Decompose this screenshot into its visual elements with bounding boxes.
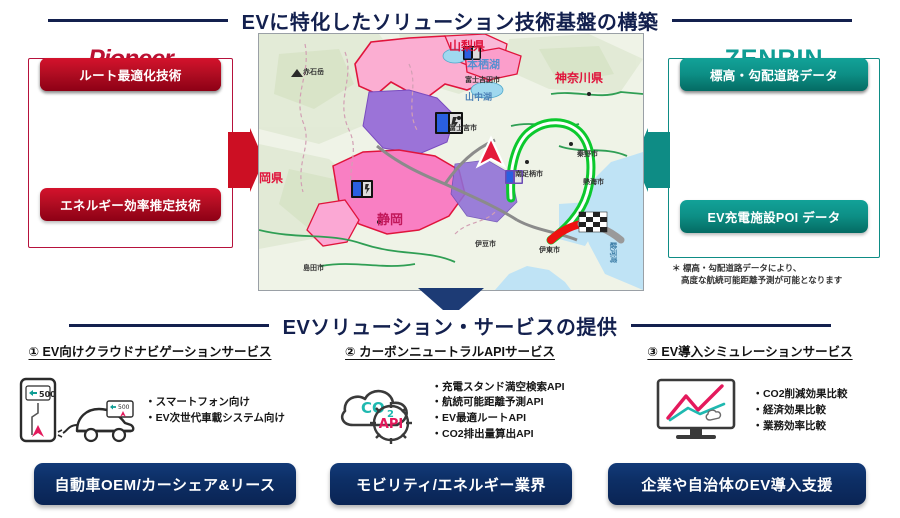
service-2-bullet-3: ・EV最適ルートAPI	[431, 411, 564, 427]
service-2-body: CO 2	[300, 372, 600, 450]
service-3-bullet-1: ・CO2削減効果比較	[752, 387, 847, 403]
service-3-body: ・CO2削減効果比較 ・経済効果比較 ・業務効率比較	[600, 372, 900, 450]
zenrin-panel: ZENRIN EV充電施設POI データ 高精度・高鮮度地図データ 標高・勾配道…	[668, 58, 880, 258]
svg-text:静岡: 静岡	[377, 212, 403, 228]
smartphone-car-nav-icon: 500 500	[15, 373, 135, 450]
svg-text:山中湖: 山中湖	[465, 91, 492, 103]
monitor-line-chart-icon	[652, 374, 742, 449]
navigation-map[interactable]: 山梨県 本栖湖 赤石岳 富士宮市 富士吉田市 山中湖 神奈川県 秦野市 南足柄市…	[258, 33, 644, 291]
svg-text:山梨県: 山梨県	[449, 38, 485, 53]
svg-text:神奈川県: 神奈川県	[555, 70, 603, 85]
service-3-bullets: ・CO2削減効果比較 ・経済効果比較 ・業務効率比較	[752, 387, 847, 434]
target-market-pill-3[interactable]: 企業や自治体のEV導入支援	[608, 463, 866, 505]
service-2-bullet-2: ・航続可能距離予測API	[431, 395, 564, 411]
service-1-bullet-1: ・スマートフォン向け	[145, 395, 285, 411]
service-3-bullet-3: ・業務効率比較	[752, 419, 847, 435]
pioneer-panel: Pioneer エネルギー効率推定技術 航続可能距離予測技術 ルート最適化技術	[28, 58, 233, 248]
svg-text:伊豆市: 伊豆市	[474, 239, 496, 248]
service-3-bullet-2: ・経済効果比較	[752, 403, 847, 419]
svg-text:富士宮市: 富士宮市	[449, 123, 477, 132]
bottom-title-rule-left	[69, 324, 269, 327]
svg-text:南足柄市: 南足柄市	[515, 169, 543, 178]
goal-flag-icon	[579, 212, 607, 232]
svg-text:島田市: 島田市	[303, 263, 324, 272]
zenrin-data-chip-3[interactable]: 標高・勾配道路データ	[680, 58, 868, 91]
svg-text:500: 500	[118, 404, 130, 411]
svg-text:本栖湖: 本栖湖	[467, 57, 500, 71]
zenrin-footnote-line1: ＊ 標高・勾配道路データにより、	[672, 262, 900, 274]
svg-text:API: API	[379, 417, 403, 432]
title-rule-left	[48, 19, 228, 22]
service-2-bullet-1: ・充電スタンド満空検索API	[431, 380, 564, 396]
flow-down-arrow-icon	[418, 288, 484, 310]
service-2-bullet-4: ・CO2排出量算出API	[431, 427, 564, 443]
pioneer-tech-chip-1[interactable]: エネルギー効率推定技術	[40, 188, 221, 221]
svg-text:岡県: 岡県	[259, 171, 283, 185]
service-block-1: ① EV向けクラウドナビゲーションサービス 500	[0, 341, 300, 450]
svg-text:富士吉田市: 富士吉田市	[465, 75, 500, 84]
ev-charge-poi-icon	[351, 180, 373, 198]
target-market-pill-2[interactable]: モビリティ/エネルギー業界	[330, 463, 572, 505]
zenrin-footnote-line2: 高度な航続可能距離予測が可能となります	[672, 274, 900, 286]
bottom-title-rule-right	[631, 324, 831, 327]
zenrin-data-chip-1[interactable]: EV充電施設POI データ	[680, 200, 868, 233]
title-rule-right	[672, 19, 852, 22]
svg-text:赤石岳: 赤石岳	[303, 67, 324, 76]
service-block-2: ② カーボンニュートラルAPIサービス CO 2	[300, 341, 600, 450]
service-1-title: ① EV向けクラウドナビゲーションサービス	[0, 341, 300, 360]
bottom-section-title-text: EVソリューション・サービスの提供	[283, 311, 618, 340]
svg-text:500: 500	[39, 390, 56, 399]
service-3-title: ③ EV導入シミュレーションサービス	[600, 341, 900, 360]
zenrin-footnote: ＊ 標高・勾配道路データにより、 高度な航続可能距離予測が可能となります	[672, 262, 900, 287]
service-2-title: ② カーボンニュートラルAPIサービス	[300, 341, 600, 360]
target-market-pill-1[interactable]: 自動車OEM/カーシェア&リース	[34, 463, 296, 505]
bottom-section-title: EVソリューション・サービスの提供	[0, 311, 900, 340]
svg-text:熱海市: 熱海市	[583, 177, 604, 186]
svg-text:秦野市: 秦野市	[576, 149, 598, 158]
co2-cloud-api-gear-icon: CO 2	[335, 373, 421, 450]
svg-text:駿河湾: 駿河湾	[609, 242, 618, 263]
svg-text:伊東市: 伊東市	[538, 245, 560, 254]
pioneer-tech-chip-3[interactable]: ルート最適化技術	[40, 58, 221, 91]
slide-root: EVに特化したソリューション技術基盤の構築 Pioneer エネルギー効率推定技…	[0, 0, 900, 518]
top-section-title: EVに特化したソリューション技術基盤の構築	[0, 6, 900, 35]
service-2-bullets: ・充電スタンド満空検索API ・航続可能距離予測API ・EV最適ルートAPI …	[431, 380, 564, 443]
service-1-bullets: ・スマートフォン向け ・EV次世代車載システム向け	[145, 395, 285, 427]
service-block-3: ③ EV導入シミュレーションサービス ・CO2削減効果比較 ・経済効果比較 ・業…	[600, 341, 900, 450]
service-1-body: 500 500	[0, 372, 300, 450]
top-section-title-text: EVに特化したソリューション技術基盤の構築	[242, 6, 659, 35]
service-1-bullet-2: ・EV次世代車載システム向け	[145, 411, 285, 427]
